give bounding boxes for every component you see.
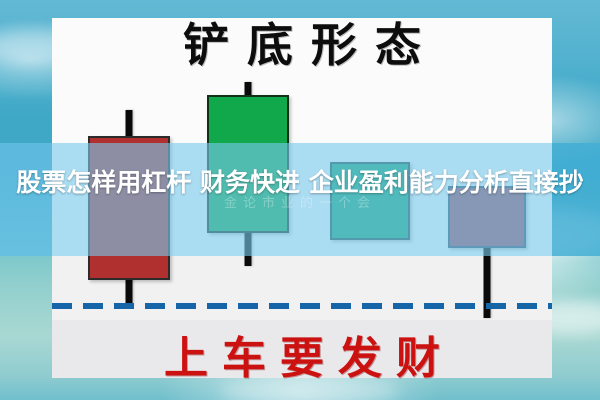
support-line [52, 303, 552, 309]
candlestick-4 [448, 186, 526, 318]
candlestick-1-body [88, 136, 170, 280]
chart-footer-slogan: 上车要发财 [52, 322, 552, 386]
candlestick-1 [88, 110, 170, 306]
headline-overlay: 股票怎样用杠杆 财务快进 企业盈利能力分析直接抄 [0, 166, 600, 200]
candlestick-2-body [207, 95, 289, 233]
screenshot-stage: 铲底形态 金论市业的一个会 股票怎样用杠杆 财务快进 企业盈利能力分析直接抄 上… [0, 0, 600, 400]
chart-title: 铲底形态 [52, 20, 552, 72]
